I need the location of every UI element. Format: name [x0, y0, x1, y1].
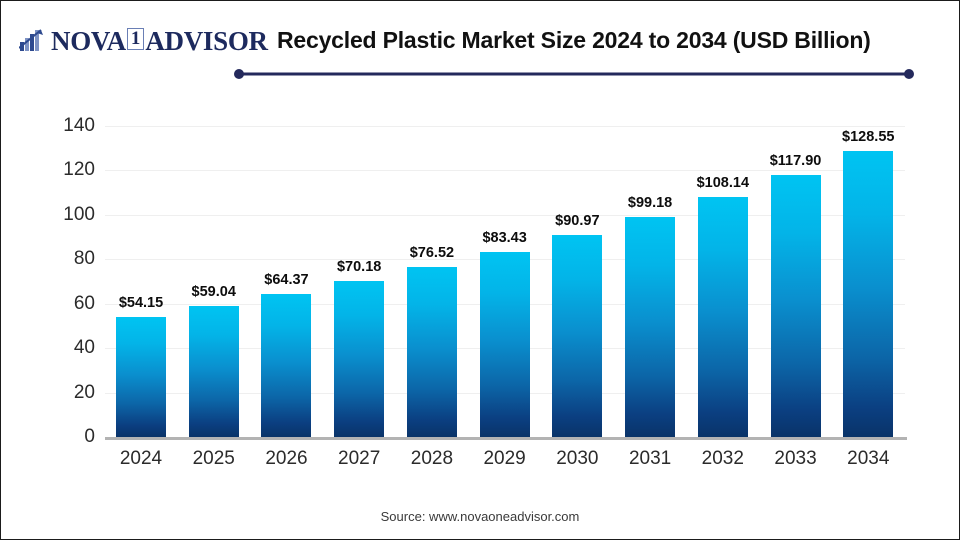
bar-value-label: $117.90: [770, 153, 822, 169]
bar-2029[interactable]: [480, 252, 530, 437]
bar-value-label: $90.97: [555, 213, 599, 229]
x-axis-tick-label: 2032: [687, 448, 759, 470]
y-axis-tick-label: 140: [45, 115, 95, 137]
bar-2030[interactable]: [552, 235, 602, 437]
chart-header: NOVA 1 ADVISOR Recycled Plastic Market S…: [1, 1, 959, 71]
bar-value-label: $99.18: [628, 195, 672, 211]
bar-2026[interactable]: [261, 294, 311, 437]
page-title: Recycled Plastic Market Size 2024 to 203…: [277, 27, 871, 54]
x-axis-line: [105, 437, 907, 440]
y-axis-tick-label: 100: [45, 204, 95, 226]
bar-slot: $76.52: [396, 126, 468, 437]
y-axis-tick-label: 120: [45, 159, 95, 181]
y-axis-tick-label: 0: [45, 426, 95, 448]
bar-2032[interactable]: [698, 197, 748, 437]
y-axis-tick-label: 60: [45, 293, 95, 315]
y-axis-tick-label: 20: [45, 382, 95, 404]
bar-2027[interactable]: [334, 281, 384, 437]
bar-value-label: $108.14: [697, 175, 749, 191]
bar-2024[interactable]: [116, 317, 166, 437]
bar-value-label: $59.04: [192, 284, 236, 300]
bar-2028[interactable]: [407, 267, 457, 437]
bar-slot: $128.55: [832, 126, 904, 437]
bar-slot: $70.18: [323, 126, 395, 437]
bar-value-label: $128.55: [842, 129, 894, 145]
x-axis-tick-label: 2030: [541, 448, 613, 470]
bar-2031[interactable]: [625, 217, 675, 437]
bar-chart-icon: [19, 29, 49, 53]
bar-2034[interactable]: [843, 151, 893, 437]
bar-series: $54.15$59.04$64.37$70.18$76.52$83.43$90.…: [105, 126, 905, 437]
bar-slot: $90.97: [541, 126, 613, 437]
y-axis-tick-label: 40: [45, 337, 95, 359]
brand-badge-one: 1: [127, 28, 145, 51]
x-axis-tick-label: 2029: [469, 448, 541, 470]
bar-slot: $99.18: [614, 126, 686, 437]
bar-slot: $108.14: [687, 126, 759, 437]
x-axis-tick-label: 2033: [760, 448, 832, 470]
x-axis-tick-label: 2025: [178, 448, 250, 470]
x-axis-tick-label: 2024: [105, 448, 177, 470]
chart-page: NOVA 1 ADVISOR Recycled Plastic Market S…: [0, 0, 960, 540]
brand-logo: NOVA 1 ADVISOR: [19, 25, 268, 57]
bar-2025[interactable]: [189, 306, 239, 437]
x-axis-tick-label: 2026: [250, 448, 322, 470]
x-axis-tick-label: 2034: [832, 448, 904, 470]
x-axis-tick-label: 2027: [323, 448, 395, 470]
title-divider-rule: [234, 69, 914, 79]
bar-value-label: $70.18: [337, 259, 381, 275]
bar-value-label: $83.43: [482, 230, 526, 246]
brand-name-part2: ADVISOR: [145, 28, 267, 55]
brand-name-part1: NOVA: [51, 28, 126, 55]
bar-slot: $54.15: [105, 126, 177, 437]
bar-2033[interactable]: [771, 175, 821, 437]
x-axis-tick-label: 2028: [396, 448, 468, 470]
bar-slot: $59.04: [178, 126, 250, 437]
bar-value-label: $64.37: [264, 272, 308, 288]
source-note: Source: www.novaoneadvisor.com: [1, 509, 959, 524]
bar-slot: $117.90: [760, 126, 832, 437]
bar-value-label: $54.15: [119, 295, 163, 311]
bar-slot: $64.37: [250, 126, 322, 437]
y-axis-tick-labels: 020406080100120140: [45, 126, 95, 437]
y-axis-tick-label: 80: [45, 248, 95, 270]
bar-slot: $83.43: [469, 126, 541, 437]
bar-value-label: $76.52: [410, 245, 454, 261]
x-axis-tick-label: 2031: [614, 448, 686, 470]
